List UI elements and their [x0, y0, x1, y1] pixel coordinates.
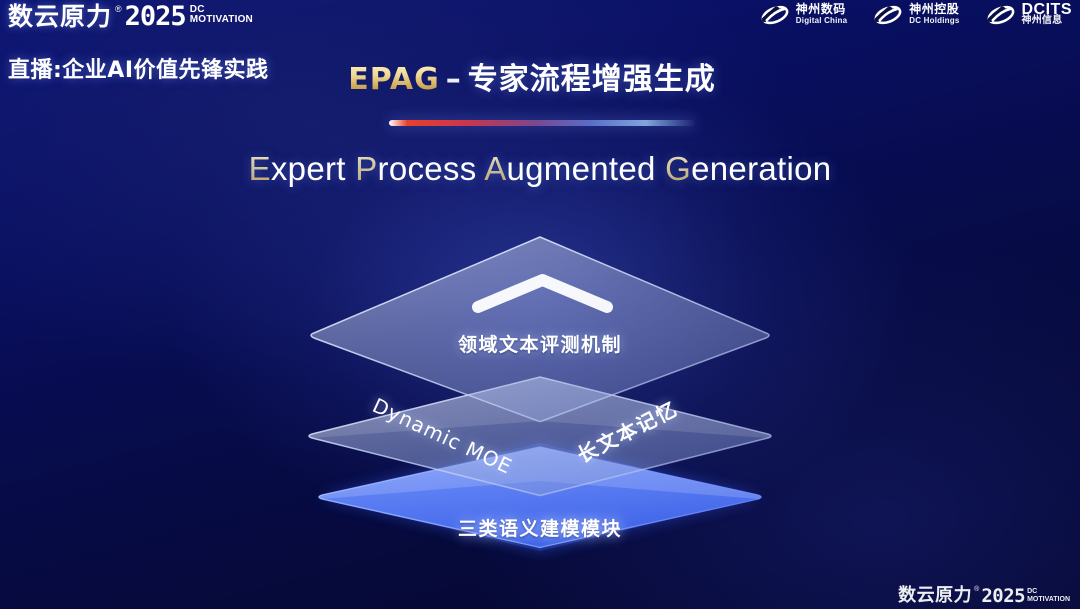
footer-brand-name-cn: 数云原力: [898, 585, 972, 607]
brand-registered-mark: ®: [115, 2, 122, 16]
diagram-layer-top: 领域文本评测机制: [290, 225, 790, 565]
footer-motivation: MOTIVATION: [1027, 596, 1070, 604]
chevron-up-icon: [470, 273, 615, 311]
partner-name-en-1: DC Holdings: [909, 15, 959, 26]
partner-logo-group: 神州数码 Digital China 神州控股 DC Holdings: [760, 4, 1072, 26]
header-brand-logo: 数云原力 ® 2025 DC MOTIVATION: [8, 2, 253, 32]
swoosh-icon: [873, 4, 903, 26]
brand-motivation: MOTIVATION: [190, 15, 253, 25]
partner-text-2: DCITS 神州信息: [1022, 4, 1073, 26]
partner-name-cn-0: 神州数码: [796, 4, 848, 15]
layer-stack-diagram: 三类语义建模模块: [290, 225, 790, 565]
subtitle-rest-3: eneration: [691, 150, 831, 187]
subtitle-cap-2: A: [484, 150, 506, 187]
subtitle-cap-3: G: [665, 150, 691, 187]
partner-logo-2: DCITS 神州信息: [986, 4, 1073, 26]
subtitle-rest-0: xpert: [271, 150, 346, 187]
title-acronym: EPAG: [348, 62, 440, 97]
footer-brand-year: 2025: [981, 585, 1025, 607]
brand-name-cn: 数云原力: [8, 2, 112, 32]
footer-brand-logo: 数云原力 ® 2025 DC MOTIVATION: [898, 585, 1070, 607]
page-title: EPAG–专家流程增强生成: [0, 54, 1072, 98]
partner-name-cn-2: DCITS: [1022, 4, 1073, 15]
subtitle: Expert Process Augmented Generation: [0, 150, 1080, 188]
gradient-divider: [389, 120, 695, 126]
subtitle-cap-1: P: [355, 150, 377, 187]
slide-canvas: 数云原力 ® 2025 DC MOTIVATION 直播:企业AI价值先锋实践 …: [0, 0, 1080, 609]
partner-logo-1: 神州控股 DC Holdings: [873, 4, 959, 26]
brand-year: 2025: [125, 2, 186, 32]
footer-registered-mark: ®: [974, 585, 979, 595]
brand-dc-motivation: DC MOTIVATION: [190, 5, 253, 25]
footer-dc-motivation: DC MOTIVATION: [1027, 588, 1070, 604]
swoosh-icon: [760, 4, 790, 26]
subtitle-cap-0: E: [249, 150, 271, 187]
partner-text-0: 神州数码 Digital China: [796, 4, 848, 26]
partner-name-en-2: 神州信息: [1022, 15, 1073, 26]
subtitle-rest-2: ugmented: [507, 150, 656, 187]
partner-name-en-0: Digital China: [796, 15, 848, 26]
title-chinese: 专家流程增强生成: [468, 62, 716, 97]
partner-text-1: 神州控股 DC Holdings: [909, 4, 959, 26]
subtitle-rest-1: rocess: [378, 150, 477, 187]
partner-name-cn-1: 神州控股: [909, 4, 959, 15]
swoosh-icon: [986, 4, 1016, 26]
partner-logo-0: 神州数码 Digital China: [760, 4, 848, 26]
title-dash: –: [446, 62, 462, 97]
footer-dc: DC: [1027, 588, 1070, 596]
